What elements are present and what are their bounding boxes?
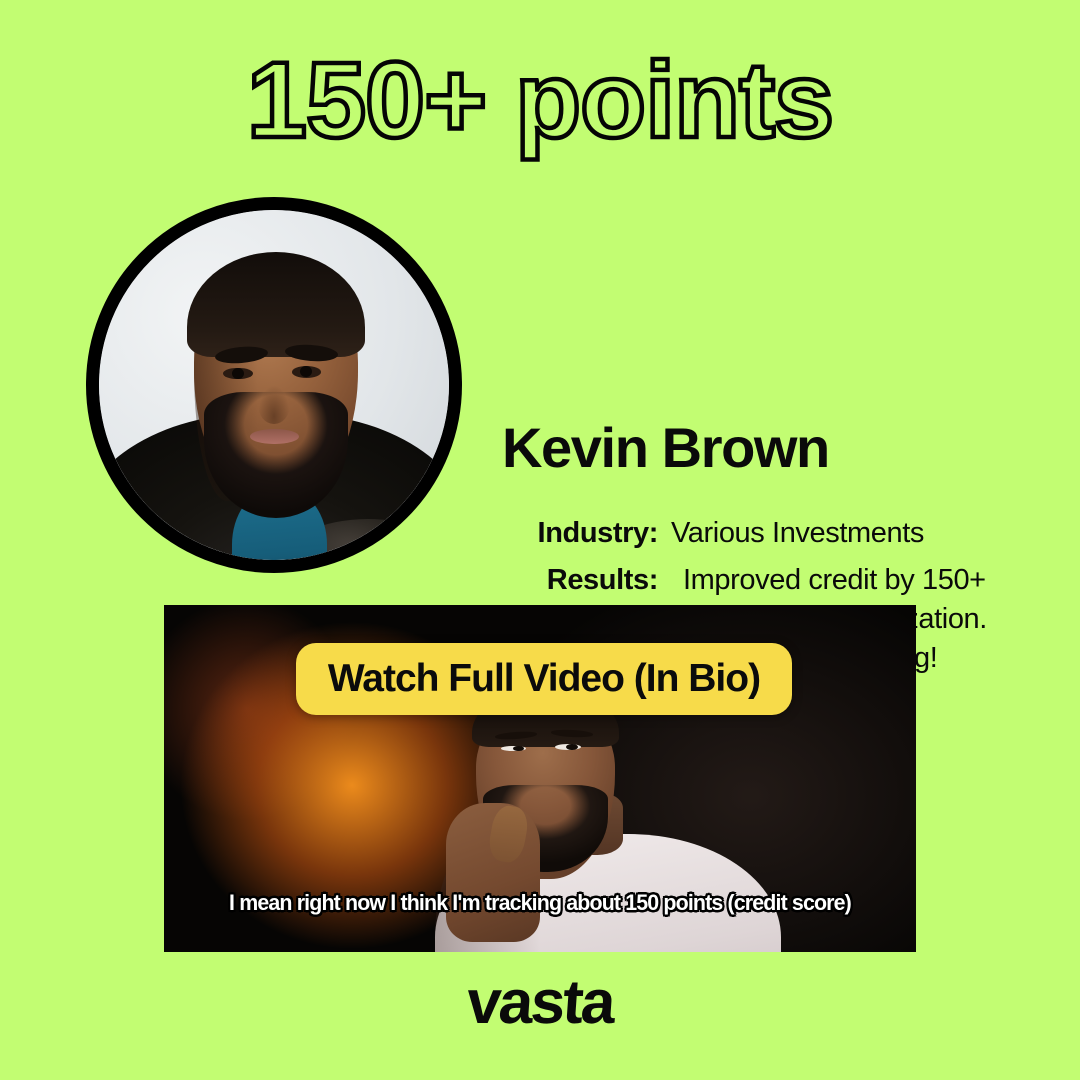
headshot-photo <box>99 210 449 560</box>
brand-logo: vasta <box>0 967 1080 1038</box>
industry-label: Industry: <box>502 514 658 552</box>
industry-row: Industry: Various Investments <box>502 514 1042 553</box>
watch-full-video-button[interactable]: Watch Full Video (In Bio) <box>296 643 792 715</box>
lips-shape <box>250 429 299 444</box>
hair-shape <box>187 252 366 357</box>
profile-section: Kevin Brown Industry: Various Investment… <box>0 193 1080 593</box>
results-label: Results: <box>502 561 658 599</box>
watch-full-video-label: Watch Full Video (In Bio) <box>328 657 760 701</box>
avatar <box>86 197 462 573</box>
video-subject-pupil-right <box>566 744 577 750</box>
pupil-right <box>300 366 312 377</box>
pupil-left <box>232 368 244 379</box>
video-caption: I mean right now I think I'm tracking ab… <box>183 890 897 916</box>
industry-value: Various Investments <box>658 514 1042 553</box>
page-title: 150+ points <box>0 46 1080 154</box>
video-thumbnail-card[interactable]: Watch Full Video (In Bio) I mean right n… <box>164 605 916 952</box>
person-name: Kevin Brown <box>502 419 1042 478</box>
